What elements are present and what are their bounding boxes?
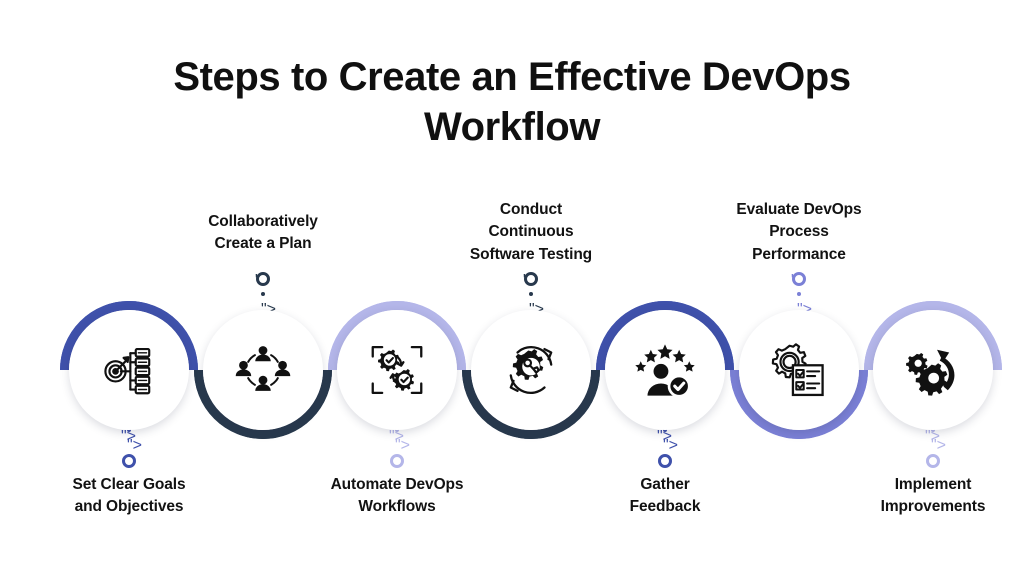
step-connector-3: ">">: [389, 428, 405, 474]
label-line: Set Clear Goals: [24, 474, 234, 496]
automation-gears-icon: [366, 339, 428, 401]
step-label-5: GatherFeedback: [560, 474, 770, 519]
step-circle-5[interactable]: [605, 310, 725, 430]
step-node-6[interactable]: [739, 310, 859, 430]
step-label-1: Set Clear Goalsand Objectives: [24, 474, 234, 519]
label-line: Evaluate DevOps: [694, 199, 904, 221]
step-node-5[interactable]: [605, 310, 725, 430]
step-chain: ">"> Set Clear Goalsand Objectives ">">C…: [0, 0, 1024, 576]
label-line: Implement: [828, 474, 1024, 496]
step-node-7[interactable]: [873, 310, 993, 430]
label-line: and Objectives: [24, 496, 234, 518]
step-circle-3[interactable]: [337, 310, 457, 430]
step-label-3: Automate DevOpsWorkflows: [292, 474, 502, 519]
step-connector-1: ">">: [121, 428, 137, 474]
step-circle-1[interactable]: [69, 310, 189, 430]
step-circle-6[interactable]: [739, 310, 859, 430]
gear-arrow-up-icon: [902, 339, 964, 401]
team-network-icon: [232, 339, 294, 401]
step-node-4[interactable]: [471, 310, 591, 430]
user-rating-stars-icon: [634, 339, 696, 401]
label-line: Workflows: [292, 496, 502, 518]
gear-checklist-icon: [768, 339, 830, 401]
step-label-4: ConductContinuousSoftware Testing: [426, 199, 636, 266]
step-circle-4[interactable]: [471, 310, 591, 430]
step-node-3[interactable]: [337, 310, 457, 430]
label-line: Automate DevOps: [292, 474, 502, 496]
step-label-6: Evaluate DevOpsProcessPerformance: [694, 199, 904, 266]
label-line: Create a Plan: [158, 233, 368, 255]
target-hierarchy-icon: [98, 339, 160, 401]
step-circle-7[interactable]: [873, 310, 993, 430]
step-label-2: CollaborativelyCreate a Plan: [158, 211, 368, 256]
label-line: Performance: [694, 244, 904, 266]
label-line: Process: [694, 221, 904, 243]
step-label-7: ImplementImprovements: [828, 474, 1024, 519]
label-line: Feedback: [560, 496, 770, 518]
step-circle-2[interactable]: [203, 310, 323, 430]
step-connector-7: ">">: [925, 428, 941, 474]
step-node-1[interactable]: [69, 310, 189, 430]
label-line: Continuous: [426, 221, 636, 243]
label-line: Improvements: [828, 496, 1024, 518]
label-line: Gather: [560, 474, 770, 496]
step-node-2[interactable]: [203, 310, 323, 430]
label-line: Software Testing: [426, 244, 636, 266]
label-line: Conduct: [426, 199, 636, 221]
step-connector-5: ">">: [657, 428, 673, 474]
label-line: Collaboratively: [158, 211, 368, 233]
infographic-canvas: Steps to Create an Effective DevOps Work…: [0, 0, 1024, 576]
gear-wrench-cycle-icon: [500, 339, 562, 401]
